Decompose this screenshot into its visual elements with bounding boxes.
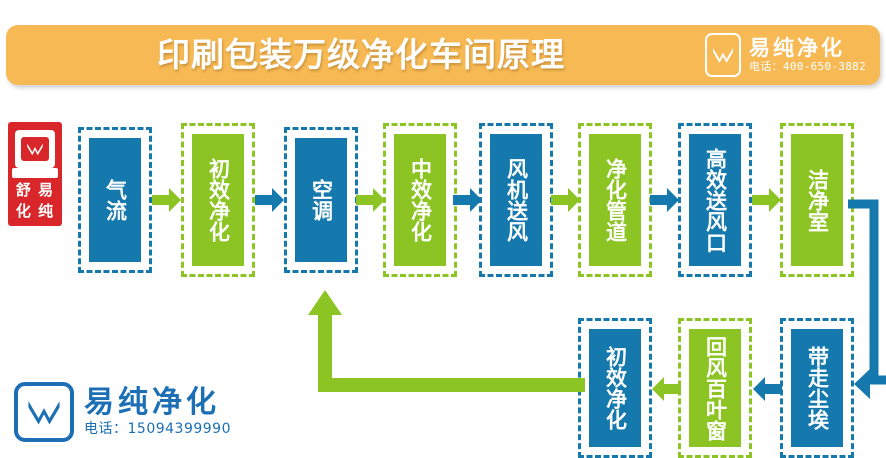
flow-node-gaoxiao-songfengkou[interactable]: 高效送风口 bbox=[678, 123, 752, 277]
flow-node-qiliu[interactable]: 气流 bbox=[78, 127, 152, 273]
page-title: 印刷包装万级净化车间原理 bbox=[76, 33, 646, 77]
diagram-canvas: 印刷包装万级净化车间原理 易纯净化 电话：400-650-3882 舒 易 bbox=[0, 0, 886, 458]
flow-node-chuxiao-jinghua-return[interactable]: 初效净化 bbox=[578, 318, 652, 458]
flow-node-label: 带走尘埃 bbox=[791, 329, 843, 447]
footer-phone: 电话：15094399990 bbox=[84, 420, 231, 438]
flow-node-label: 初效净化 bbox=[589, 329, 641, 447]
arrow-zhongxiao-to-fengji bbox=[453, 185, 483, 215]
header-brand-name: 易纯净化 bbox=[749, 36, 845, 60]
flow-node-chuxiao-jinghua[interactable]: 初效净化 bbox=[181, 123, 255, 277]
arrow-guandao-to-gaoxiao bbox=[650, 185, 680, 215]
seal-characters: 舒 易 化 纯 bbox=[11, 180, 59, 222]
red-seal-stamp-icon: 舒 易 化 纯 bbox=[8, 122, 62, 226]
flow-node-label: 空调 bbox=[295, 138, 347, 262]
arrow-chuxiao-to-kongtiao bbox=[255, 185, 285, 215]
flow-node-fengji-songfeng[interactable]: 风机送风 bbox=[479, 123, 553, 277]
arrow-daizou-to-huifeng bbox=[752, 374, 782, 404]
header-banner: 印刷包装万级净化车间原理 易纯净化 电话：400-650-3882 bbox=[6, 25, 880, 85]
flow-node-label: 高效送风口 bbox=[689, 134, 741, 266]
arrow-kongtiao-to-zhongxiao bbox=[356, 185, 386, 215]
yichun-w-mark-icon bbox=[705, 33, 741, 77]
seal-logo-plate bbox=[15, 130, 55, 168]
flow-node-label: 气流 bbox=[89, 138, 141, 262]
flow-node-label: 回风百叶窗 bbox=[689, 329, 741, 447]
footer-brand-name: 易纯净化 bbox=[84, 386, 220, 420]
yichun-w-mark-icon bbox=[14, 382, 74, 442]
flow-node-label: 中效净化 bbox=[394, 134, 446, 266]
arrow-huifeng-to-chuxiao bbox=[651, 374, 681, 404]
flow-node-label: 风机送风 bbox=[490, 134, 542, 266]
flow-node-huifeng-baiyechuang[interactable]: 回风百叶窗 bbox=[678, 318, 752, 458]
footer-logo: 易纯净化 电话：15094399990 bbox=[14, 382, 231, 442]
header-phone: 电话：400-650-3882 bbox=[749, 60, 866, 74]
seal-chars-line2: 化 纯 bbox=[11, 201, 59, 222]
arrow-fengji-to-guandao bbox=[551, 185, 581, 215]
connector-chuxiao-to-kongtiao bbox=[295, 285, 585, 395]
flow-node-label: 初效净化 bbox=[192, 134, 244, 266]
flow-node-jinghua-guandao[interactable]: 净化管道 bbox=[578, 123, 652, 277]
flow-node-kongtiao[interactable]: 空调 bbox=[284, 127, 358, 273]
header-logo: 易纯净化 电话：400-650-3882 bbox=[705, 30, 866, 80]
flow-node-jiejingshi[interactable]: 洁净室 bbox=[780, 123, 854, 277]
arrow-gaoxiao-to-jiejingshi bbox=[752, 185, 782, 215]
arrow-qiliu-to-chuxiao bbox=[152, 185, 182, 215]
seal-divider bbox=[12, 168, 58, 178]
flow-node-zhongxiao-jinghua[interactable]: 中效净化 bbox=[383, 123, 457, 277]
connector-jiejingshi-to-daizou bbox=[848, 192, 886, 402]
seal-w-mark-icon bbox=[21, 137, 49, 161]
seal-chars-line1: 舒 易 bbox=[11, 180, 59, 201]
flow-node-daizou-chenai[interactable]: 带走尘埃 bbox=[780, 318, 854, 458]
flow-node-label: 洁净室 bbox=[791, 134, 843, 266]
flow-node-label: 净化管道 bbox=[589, 134, 641, 266]
